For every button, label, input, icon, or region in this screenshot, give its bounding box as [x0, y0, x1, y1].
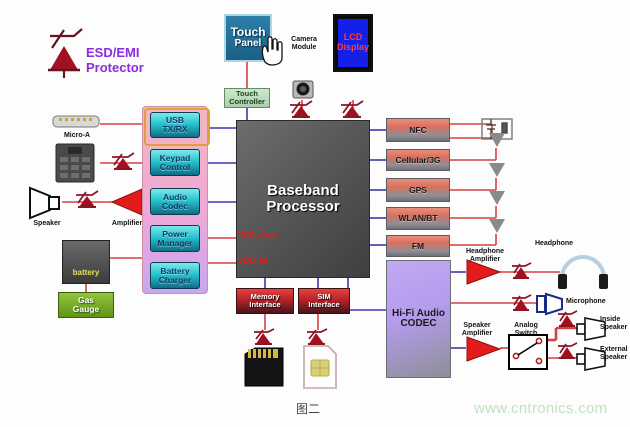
camera-module-label: Camera Module [278, 36, 330, 51]
esd-diode-memory-icon [252, 328, 280, 348]
esd-emi-legend: ESD/EMI Protector [86, 46, 144, 76]
block-keypad-control[interactable]: KeypadControl [150, 149, 200, 176]
keypad-icon [56, 144, 94, 182]
vdd-io-label: VDD_IO [238, 257, 308, 266]
esd-diode-speaker-icon [74, 190, 104, 212]
speaker-label: Speaker [22, 220, 72, 228]
lcd-label-1: LCD [344, 32, 363, 42]
audio-amplifier-icon [110, 188, 144, 216]
radio-block-cellular3g[interactable]: Cellular/3G [386, 149, 450, 171]
figure-caption: 图二 [296, 400, 320, 417]
block-usb-txrx[interactable]: USBTX/RX [150, 112, 200, 138]
baseband-processor-block[interactable]: Baseband Processor [236, 120, 370, 278]
usb-connector-icon [52, 114, 102, 130]
radio-block-wlanbt[interactable]: WLAN/BT [386, 207, 450, 230]
radio-block-fm[interactable]: FM [386, 235, 450, 257]
headphone-label: Headphone [524, 240, 584, 248]
memory-interface-block[interactable]: MemoryInterface [236, 288, 294, 314]
touch-panel-label-2: Panel [235, 39, 262, 50]
lcd-display-block[interactable]: LCD Display [333, 14, 373, 72]
sim-card-icon [302, 344, 338, 390]
antenna-fm-icon [488, 218, 506, 234]
block-audio-codec[interactable]: AudioCodec [150, 188, 200, 215]
esd-diode-camera-icon [288, 100, 318, 122]
microsd-card-icon [243, 346, 287, 388]
hifi-audio-codec-block[interactable]: Hi-Fi Audio CODEC [386, 260, 451, 378]
esd-diode-keypad-icon [110, 152, 140, 174]
watermark: www.cntronics.com [474, 400, 607, 417]
baseband-label-1: Baseband [267, 183, 339, 199]
battery-icon: battery [62, 240, 110, 284]
esd-diode-headphone-icon [510, 262, 536, 282]
vdd-core-label: VDD_Core [238, 232, 308, 241]
touch-controller-label-2: Controller [229, 98, 265, 106]
usb-connector-label: Micro-A [56, 132, 98, 140]
esd-legend-line1: ESD/EMI [86, 46, 144, 61]
analog-switch-icon[interactable] [508, 334, 548, 370]
antenna-cellular-icon [488, 132, 506, 148]
esd-legend-line2: Protector [86, 61, 144, 76]
codec-label-2: CODEC [400, 319, 436, 330]
headphone-icon [556, 252, 612, 292]
gas-gauge-label-2: Gauge [73, 305, 99, 314]
esd-diode-microphone-icon [510, 294, 536, 314]
headphone-amplifier-icon [466, 259, 502, 285]
antenna-wlanbt-icon [488, 190, 506, 206]
microphone-label: Microphone [566, 298, 626, 306]
esd-diode-lcd-icon [339, 100, 369, 122]
camera-module-icon [292, 78, 314, 100]
sim-interface-block[interactable]: SIMInterface [298, 288, 350, 314]
inside-speaker-label: InsideSpeaker [600, 316, 630, 331]
radio-block-gps[interactable]: GPS [386, 178, 450, 202]
radio-block-nfc[interactable]: NFC [386, 118, 450, 142]
block-power-manager[interactable]: PowerManager [150, 225, 200, 252]
block-diagram-canvas: ESD/EMI Protector Touch Panel Touch Cont… [0, 0, 630, 427]
touch-controller-block[interactable]: Touch Controller [224, 88, 270, 108]
gas-gauge-block[interactable]: Gas Gauge [58, 292, 114, 318]
lcd-label-2: Display [337, 42, 369, 52]
speaker-icon [28, 186, 66, 220]
block-battery-charger[interactable]: BatteryCharger [150, 262, 200, 289]
external-speaker-label: ExternalSpeaker [600, 346, 630, 361]
antenna-gps-icon [488, 162, 506, 178]
baseband-label-2: Processor [266, 199, 339, 215]
speaker-amplifier-icon [466, 336, 502, 362]
battery-label: battery [73, 269, 100, 277]
